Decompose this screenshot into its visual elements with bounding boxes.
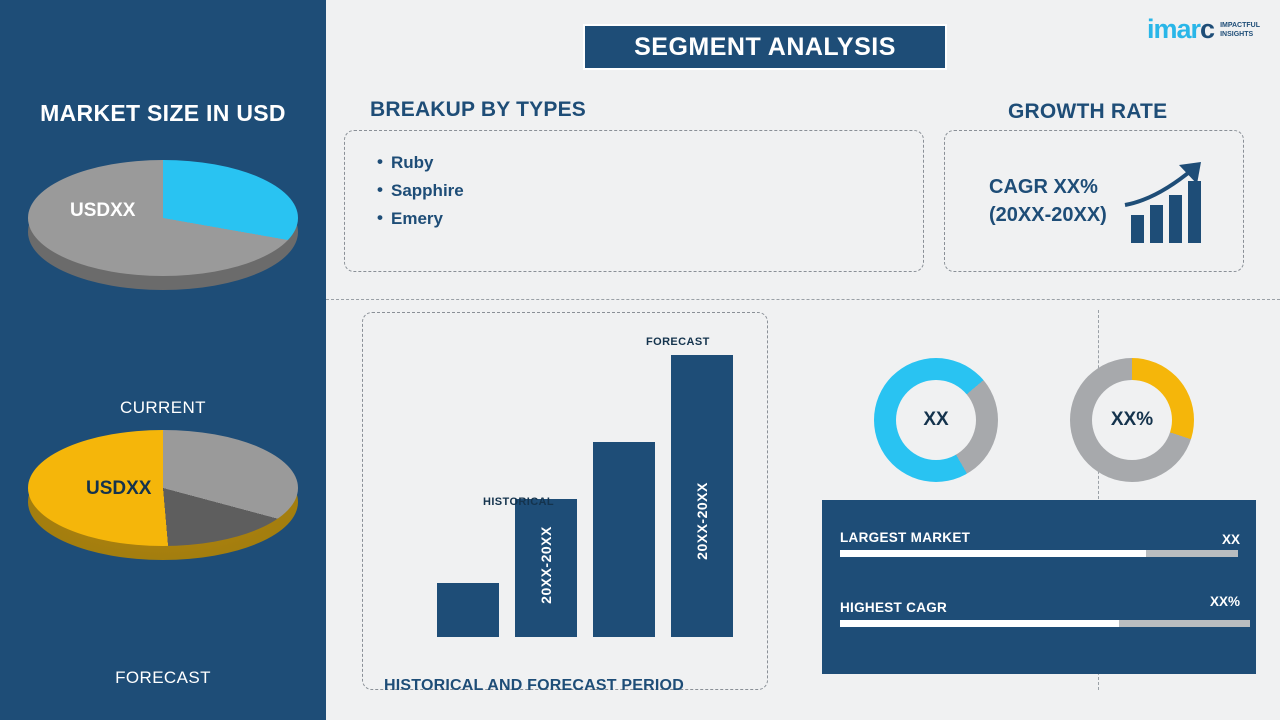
historical-tag: HISTORICAL <box>483 496 554 508</box>
growth-box: CAGR XX% (20XX-20XX) <box>944 130 1244 272</box>
highest-cagr-value: XX% <box>1210 594 1240 609</box>
units-donut-value: XX <box>896 380 976 460</box>
highest-cagr-label: HIGHEST CAGR <box>840 600 947 615</box>
bar-chart-caption: HISTORICAL AND FORECAST PERIOD <box>384 677 684 695</box>
bar-label: 20XX-20XX <box>538 526 554 604</box>
largest-market-remainder <box>1146 550 1238 557</box>
units-donut: XX <box>874 358 998 482</box>
breakup-title: BREAKUP BY TYPES <box>370 98 586 122</box>
list-item: Sapphire <box>377 181 464 201</box>
largest-market-fill <box>840 550 1146 557</box>
percent-donut-value: XX% <box>1092 380 1172 460</box>
highest-cagr-remainder <box>1119 620 1250 627</box>
growth-chart-icon <box>1121 159 1231 249</box>
highest-cagr-track <box>840 620 1250 627</box>
growth-title: GROWTH RATE <box>1008 100 1167 124</box>
list-item: Ruby <box>377 153 464 173</box>
segment-analysis-infographic: MARKET SIZE IN USD USDXX CURRENT USDXX F… <box>0 0 1280 720</box>
largest-market-track <box>840 550 1238 557</box>
logo-wordmark: imarc <box>1147 14 1214 45</box>
stats-card: LARGEST MARKET XX HIGHEST CAGR XX% <box>822 500 1256 674</box>
forecast-tag: FORECAST <box>646 336 710 348</box>
bar-chart-box: 20XX-20XX 20XX-20XX HISTORICAL FORECAST <box>362 312 768 690</box>
table-row <box>593 442 655 637</box>
largest-market-value: XX <box>1222 532 1240 547</box>
bar-chart-plot: 20XX-20XX 20XX-20XX <box>391 337 741 637</box>
list-item: Emery <box>377 209 464 229</box>
breakup-list: Ruby Sapphire Emery <box>377 153 464 237</box>
forecast-pie-top <box>28 430 298 546</box>
logo-tagline-line1: IMPACTFUL <box>1220 21 1260 30</box>
table-row: 20XX-20XX <box>671 355 733 637</box>
logo-tagline-line2: INSIGHTS <box>1220 30 1260 39</box>
cagr-line2: (20XX-20XX) <box>989 201 1107 229</box>
forecast-pie-caption: FORECAST <box>0 668 326 688</box>
cagr-line1: CAGR XX% <box>989 173 1107 201</box>
current-pie-caption: CURRENT <box>0 398 326 418</box>
cagr-text: CAGR XX% (20XX-20XX) <box>989 173 1107 229</box>
forecast-pie-3d: USDXX <box>28 430 298 560</box>
market-size-title: MARKET SIZE IN USD <box>0 100 326 127</box>
current-pie-chart: USDXX CURRENT <box>0 160 326 418</box>
bar-label: 20XX-20XX <box>694 482 710 560</box>
percent-donut: XX% <box>1070 358 1194 482</box>
breakup-box: Ruby Sapphire Emery <box>344 130 924 272</box>
table-row: 20XX-20XX <box>515 499 577 637</box>
horizontal-divider <box>326 299 1280 300</box>
current-pie-3d: USDXX <box>28 160 298 290</box>
page-title: SEGMENT ANALYSIS <box>583 24 947 70</box>
logo-tagline: IMPACTFUL INSIGHTS <box>1220 21 1260 39</box>
current-pie-value: USDXX <box>70 200 135 222</box>
forecast-pie-chart: USDXX FORECAST <box>0 430 326 688</box>
forecast-pie-value: USDXX <box>86 478 151 500</box>
highest-cagr-fill <box>840 620 1119 627</box>
largest-market-label: LARGEST MARKET <box>840 530 970 545</box>
left-panel: MARKET SIZE IN USD USDXX CURRENT USDXX F… <box>0 0 326 720</box>
imarc-logo: imarc IMPACTFUL INSIGHTS <box>1147 14 1260 45</box>
current-pie-top <box>28 160 298 276</box>
table-row <box>437 583 499 637</box>
